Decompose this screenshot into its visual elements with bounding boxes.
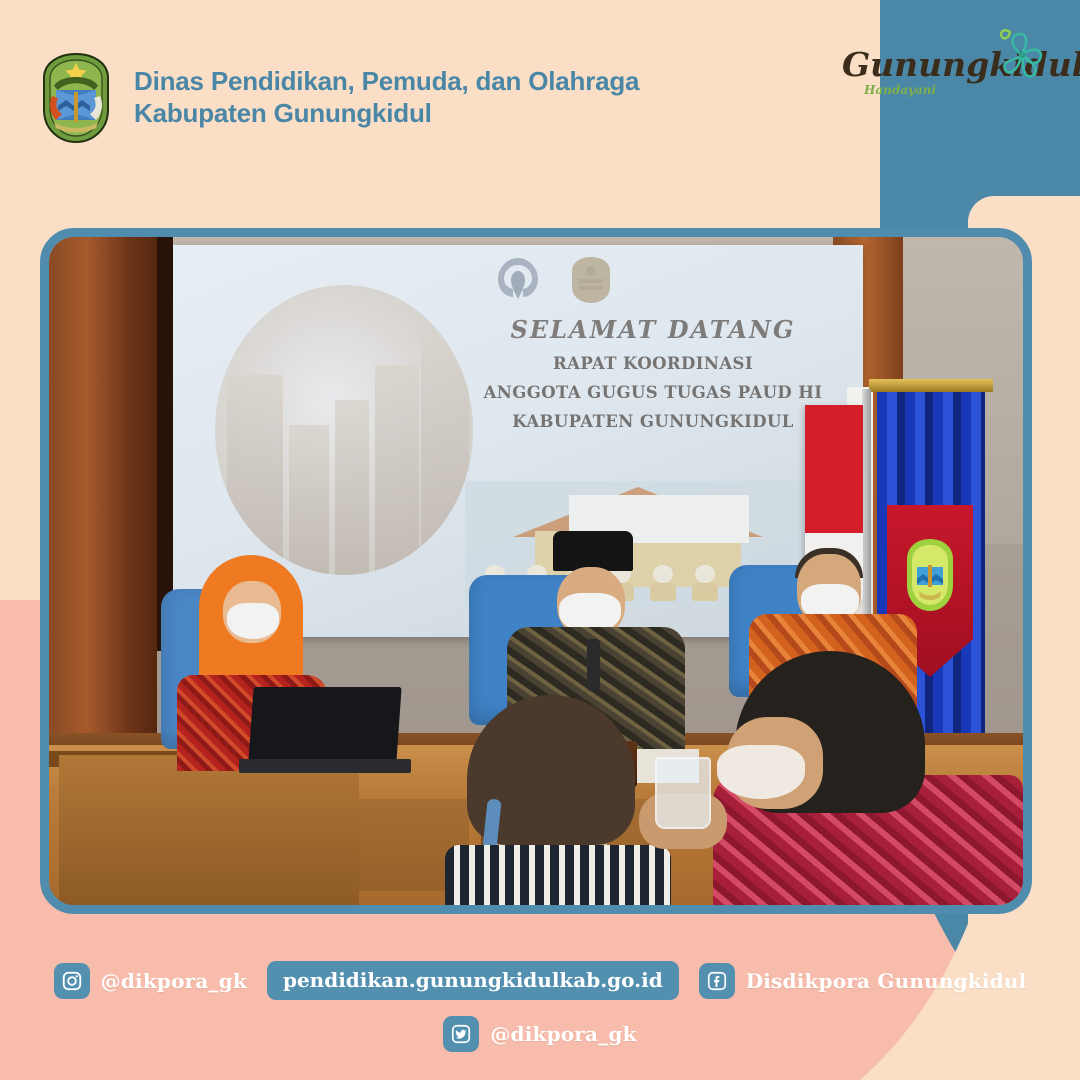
desk-left bbox=[59, 755, 359, 905]
slide-line-2: ANGGOTA GUGUS TUGAS PAUD HI bbox=[453, 383, 853, 402]
footer-row-primary: @dikpora_gk pendidikan.gunungkidulkab.go… bbox=[0, 961, 1080, 1000]
attendee-back-view bbox=[439, 695, 669, 905]
plastic-cup bbox=[655, 757, 711, 829]
facebook-icon[interactable] bbox=[699, 963, 735, 999]
twitter-label[interactable]: @dikpora_gk bbox=[490, 1022, 636, 1046]
facebook-handle[interactable]: Disdikpora Gunungkidul bbox=[699, 963, 1027, 999]
footer-row-secondary: @dikpora_gk bbox=[0, 1016, 1080, 1052]
page-title-line1: Dinas Pendidikan, Pemuda, dan Olahraga bbox=[134, 66, 639, 98]
website-url-pill[interactable]: pendidikan.gunungkidulkab.go.id bbox=[267, 961, 679, 1000]
header-title-block: Dinas Pendidikan, Pemuda, dan Olahraga K… bbox=[134, 66, 639, 129]
page-title-line2: Kabupaten Gunungkidul bbox=[134, 98, 639, 130]
gunungkidul-regency-crest-icon bbox=[40, 52, 112, 144]
instagram-label[interactable]: @dikpora_gk bbox=[101, 969, 247, 993]
dragonfly-icon bbox=[990, 26, 1048, 85]
wood-panel-edge bbox=[157, 237, 173, 651]
poster-canvas: Dinas Pendidikan, Pemuda, dan Olahraga K… bbox=[0, 0, 1080, 1080]
slide-line-3: KABUPATEN GUNUNGKIDUL bbox=[453, 412, 853, 431]
curtain-rod bbox=[869, 379, 993, 392]
instagram-handle[interactable]: @dikpora_gk bbox=[54, 963, 247, 999]
twitter-handle[interactable]: @dikpora_gk bbox=[443, 1016, 636, 1052]
twitter-icon[interactable] bbox=[443, 1016, 479, 1052]
facebook-label[interactable]: Disdikpora Gunungkidul bbox=[746, 969, 1027, 993]
slide-welcome-text: SELAMAT DATANG bbox=[453, 315, 853, 344]
photo-scene: SELAMAT DATANG RAPAT KOORDINASI ANGGOTA … bbox=[49, 237, 1023, 905]
meeting-photo: SELAMAT DATANG RAPAT KOORDINASI ANGGOTA … bbox=[40, 228, 1032, 914]
gunungkidul-brand: Gunungkidul Handayani bbox=[842, 48, 1042, 132]
slide-line-1: RAPAT KOORDINASI bbox=[453, 354, 853, 373]
instagram-icon[interactable] bbox=[54, 963, 90, 999]
slide-photo-circle bbox=[215, 285, 473, 575]
laptop bbox=[239, 687, 409, 773]
man-in-red-batik-holding-cup bbox=[713, 625, 1023, 905]
slide-text-block: SELAMAT DATANG RAPAT KOORDINASI ANGGOTA … bbox=[453, 245, 853, 431]
poster-header: Dinas Pendidikan, Pemuda, dan Olahraga K… bbox=[40, 52, 639, 144]
brand-tagline: Handayani bbox=[864, 83, 1042, 97]
poster-footer: @dikpora_gk pendidikan.gunungkidulkab.go… bbox=[0, 961, 1080, 1052]
